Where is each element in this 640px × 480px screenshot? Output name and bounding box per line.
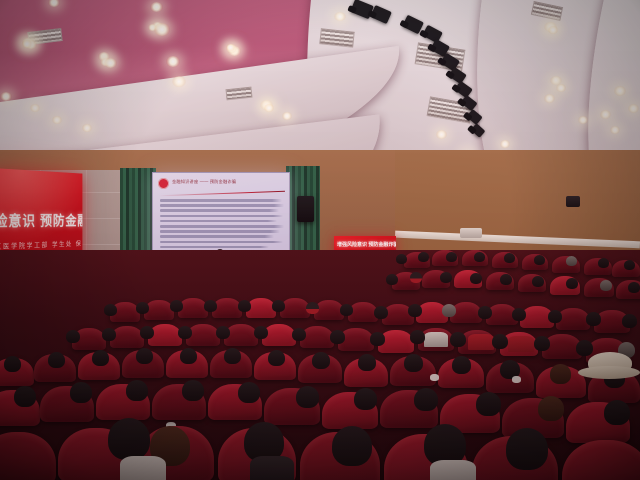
ceiling-air-vent: [319, 28, 354, 47]
bucket-hat-brim: [578, 366, 640, 379]
attendee-head: [4, 356, 21, 372]
ceiling-downlight: [548, 26, 558, 34]
attendee-head: [404, 354, 423, 372]
seated-audience: [0, 250, 640, 480]
attendee-head: [622, 314, 637, 328]
ceiling-downlight: [48, 0, 60, 7]
slide-title: 金融知识讲座 —— 预防金融诈骗: [172, 179, 236, 185]
attendee-head: [604, 400, 630, 425]
attendee-head: [566, 256, 577, 266]
loudspeaker-icon: [566, 196, 580, 207]
attendee-head: [136, 302, 149, 314]
attendee-head: [224, 348, 241, 364]
attendee-head: [204, 300, 217, 312]
attendee-head: [102, 328, 116, 341]
ceiling-downlight: [104, 58, 117, 68]
loudspeaker-icon: [297, 196, 314, 222]
ceiling-downlight: [22, 40, 32, 48]
attendee-head: [566, 278, 578, 289]
attendee-head: [170, 300, 183, 312]
attendee-head: [92, 350, 109, 366]
attendee-head-foreground: [332, 426, 372, 466]
attendee-head: [550, 364, 571, 384]
attendee-head: [500, 274, 512, 285]
attendee-torso: [468, 334, 494, 350]
attendee-head: [70, 382, 92, 403]
attendee-head: [410, 330, 425, 344]
ceiling-downlight: [544, 94, 555, 103]
attendee-head: [66, 330, 80, 343]
attendee-head: [628, 282, 640, 293]
slide-accent-rule: [159, 191, 285, 196]
image-description: Wide photo of a packed auditorium during…: [0, 465, 640, 480]
attendee-head: [180, 348, 197, 364]
ceiling-downlight: [334, 12, 346, 21]
attendee-head: [504, 253, 515, 263]
attendee-head: [292, 328, 306, 341]
attendee-head: [140, 326, 154, 339]
attendee-head: [492, 334, 508, 349]
attendee-head: [104, 304, 117, 316]
ceiling-downlight: [0, 92, 12, 101]
attendee-head: [330, 330, 345, 344]
attendee-head: [340, 304, 353, 316]
left-led-headline: …险意识 预防金融诈骗: [0, 210, 82, 231]
attendee-head-foreground: [506, 428, 548, 470]
university-emblem-icon: [158, 178, 169, 189]
attendee-head: [254, 326, 268, 339]
ceiling-projector-icon: [460, 228, 482, 238]
attendee-head: [478, 306, 492, 319]
attendee-head: [452, 356, 471, 374]
attendee-head: [178, 326, 192, 339]
ceiling-downlight: [52, 116, 62, 124]
ceiling-downlight: [30, 104, 40, 112]
attendee-head: [576, 340, 593, 356]
attendee-head: [238, 300, 251, 312]
face-mask: [512, 376, 521, 383]
ceiling-downlight: [436, 130, 447, 139]
ceiling-downlight: [172, 76, 186, 87]
attendee-head: [14, 386, 36, 407]
attendee-head: [272, 300, 285, 312]
ceiling-downlight: [166, 56, 180, 67]
attendee-head: [358, 354, 376, 371]
attendee-head: [442, 304, 456, 317]
ceiling-downlight: [226, 44, 235, 51]
attendee-head: [538, 396, 564, 421]
attendee-head: [408, 304, 422, 317]
attendee-head: [548, 310, 562, 323]
attendee-head: [534, 336, 550, 351]
attendee-head: [598, 258, 609, 268]
attendee-head: [238, 382, 260, 403]
attendee-torso: [424, 332, 448, 347]
ceiling-downlight: [500, 140, 510, 148]
attendee-head: [600, 280, 612, 291]
attendee-head: [418, 252, 429, 262]
attendee-head: [512, 308, 526, 321]
attendee-head: [216, 326, 230, 339]
attendee-head: [386, 274, 398, 285]
attendee-head: [410, 272, 422, 283]
attendee-head: [532, 276, 544, 287]
attendee-head: [374, 306, 388, 319]
ceiling-downlight: [628, 104, 639, 113]
attendee-head: [396, 254, 407, 264]
attendee-head: [450, 332, 466, 347]
attendee-head: [534, 255, 545, 265]
attendee-head: [268, 350, 285, 366]
attendee-head: [48, 352, 65, 368]
attendee-torso: [508, 336, 534, 352]
ceiling-downlight: [154, 23, 170, 36]
attendee-head: [586, 312, 601, 326]
attendee-head: [446, 252, 457, 262]
attendee-head: [474, 252, 485, 262]
ceiling-downlight: [556, 84, 566, 92]
attendee-head: [624, 260, 635, 270]
ceiling-downlight: [282, 112, 292, 120]
attendee-head: [126, 380, 148, 401]
attendee-head: [476, 392, 501, 416]
ceiling-downlight: [614, 86, 626, 96]
attendee-head: [306, 302, 319, 314]
ceiling-downlight: [578, 116, 588, 124]
right-led-headline: 增强风险意识 预防金融诈骗: [337, 241, 393, 248]
ceiling-downlight: [82, 124, 92, 132]
attendee-head: [440, 272, 452, 283]
attendee-head: [470, 273, 482, 284]
attendee-head-foreground: [108, 418, 150, 460]
ceiling-downlight: [610, 126, 620, 134]
slide-body-text: [160, 199, 284, 256]
attendee-head: [312, 352, 330, 369]
ceiling-downlight: [264, 104, 274, 112]
attendee-head: [296, 386, 319, 408]
ceiling-downlight: [150, 2, 163, 12]
attendee-head: [136, 348, 153, 364]
auditorium-photo: 金融知识讲座 —— 预防金融诈骗 …险意识 预防金融诈骗 …区医学院学工部 学生…: [0, 0, 640, 480]
ceiling-downlight: [600, 110, 611, 119]
attendee-head: [354, 388, 377, 410]
face-mask: [430, 374, 439, 381]
attendee-head: [182, 380, 204, 401]
attendee-head: [414, 388, 438, 411]
attendee-head: [370, 332, 385, 346]
